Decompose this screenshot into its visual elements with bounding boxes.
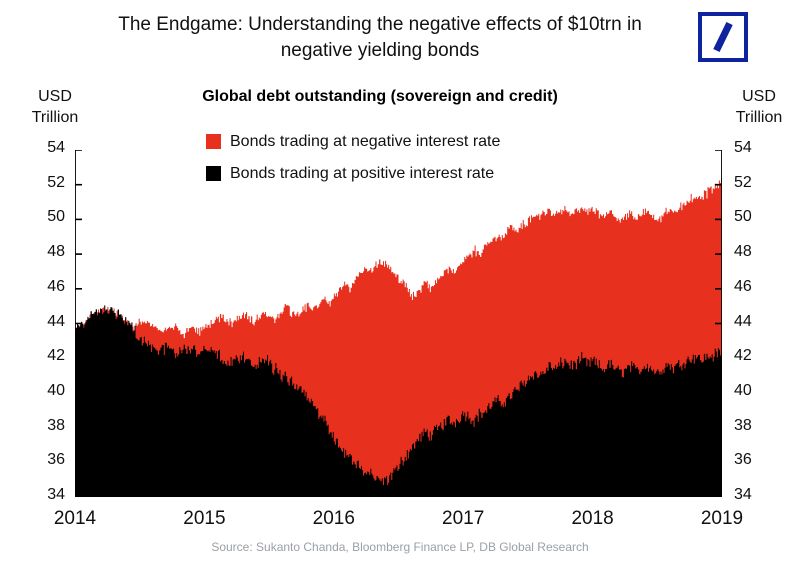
y-axis-label-right-38: 38	[734, 417, 774, 435]
legend-swatch-negative	[206, 134, 221, 149]
y-axis-label-right-34: 34	[734, 486, 774, 504]
x-axis-label-2015: 2015	[169, 508, 239, 530]
y-axis-label-left-50: 50	[25, 208, 65, 226]
y-axis-label-left-40: 40	[25, 382, 65, 400]
x-axis-label-2019: 2019	[687, 508, 757, 530]
left-axis-unit: USD Trillion	[24, 86, 86, 128]
chart-page: The Endgame: Understanding the negative …	[0, 0, 800, 569]
right-axis-unit: USD Trillion	[726, 86, 792, 128]
y-axis-label-left-54: 54	[25, 139, 65, 157]
y-axis-label-right-42: 42	[734, 347, 774, 365]
y-axis-label-left-52: 52	[25, 174, 65, 192]
left-axis-unit-line1: USD	[24, 86, 86, 107]
y-axis-label-left-34: 34	[25, 486, 65, 504]
y-axis-label-left-44: 44	[25, 313, 65, 331]
right-axis-unit-line2: Trillion	[726, 107, 792, 128]
right-axis-unit-line1: USD	[726, 86, 792, 107]
chart-plot-area	[75, 150, 722, 497]
x-axis-label-2016: 2016	[299, 508, 369, 530]
y-axis-label-left-42: 42	[25, 347, 65, 365]
deutsche-bank-logo	[698, 12, 748, 62]
y-axis-label-right-46: 46	[734, 278, 774, 296]
x-axis-label-2014: 2014	[40, 508, 110, 530]
y-axis-label-right-50: 50	[734, 208, 774, 226]
y-axis-label-left-36: 36	[25, 451, 65, 469]
y-axis-label-left-38: 38	[25, 417, 65, 435]
x-axis-label-2018: 2018	[558, 508, 628, 530]
left-axis-unit-line2: Trillion	[24, 107, 86, 128]
y-axis-label-right-36: 36	[734, 451, 774, 469]
chart-subtitle: Global debt outstanding (sovereign and c…	[110, 88, 650, 106]
y-axis-label-right-44: 44	[734, 313, 774, 331]
legend-item-negative: Bonds trading at negative interest rate	[206, 132, 500, 151]
y-axis-label-right-54: 54	[734, 139, 774, 157]
y-axis-label-left-48: 48	[25, 243, 65, 261]
page-title: The Endgame: Understanding the negative …	[110, 12, 650, 64]
y-axis-label-right-52: 52	[734, 174, 774, 192]
x-axis-label-2017: 2017	[428, 508, 498, 530]
y-axis-label-right-48: 48	[734, 243, 774, 261]
y-axis-label-right-40: 40	[734, 382, 774, 400]
y-axis-label-left-46: 46	[25, 278, 65, 296]
legend-label-negative: Bonds trading at negative interest rate	[230, 133, 500, 151]
source-note: Source: Sukanto Chanda, Bloomberg Financ…	[0, 540, 800, 554]
logo-slash-icon	[713, 22, 732, 52]
